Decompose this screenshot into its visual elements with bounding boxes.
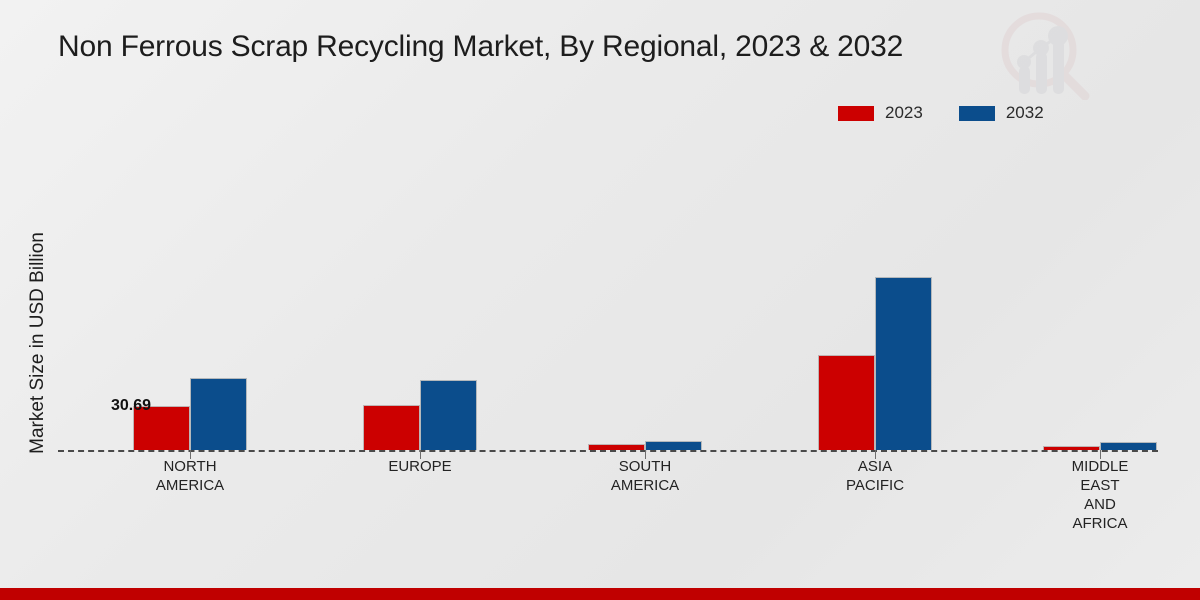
x-tick-label-middle-east-and-africa: MIDDLE EAST AND AFRICA <box>1015 457 1185 533</box>
bar-group-middle-east-and-africa <box>1040 150 1160 450</box>
bar-group-south-america <box>585 150 705 450</box>
data-label-north-america-2023: 30.69 <box>111 397 151 415</box>
bar-asia-pacific-2032[interactable] <box>875 277 932 450</box>
bar-europe-2023[interactable] <box>363 405 420 450</box>
footer-accent-bar <box>0 588 1200 600</box>
bar-middle-east-and-africa-2023[interactable] <box>1043 446 1100 450</box>
legend-swatch-2032 <box>959 106 995 121</box>
legend-item-2032[interactable]: 2032 <box>959 103 1044 123</box>
x-tick-label-line: PACIFIC <box>790 476 960 495</box>
x-tick-label-line: AFRICA <box>1015 514 1185 533</box>
bar-asia-pacific-2023[interactable] <box>818 355 875 450</box>
bar-south-america-2032[interactable] <box>645 441 702 450</box>
chart-page: Non Ferrous Scrap Recycling Market, By R… <box>0 0 1200 600</box>
bar-middle-east-and-africa-2032[interactable] <box>1100 442 1157 450</box>
x-tick-label-asia-pacific: ASIA PACIFIC <box>790 457 960 495</box>
x-axis-baseline <box>58 450 1158 452</box>
legend-label-2032: 2032 <box>1006 103 1044 123</box>
chart-legend: 2023 2032 <box>838 103 1044 123</box>
x-tick-label-line: AND <box>1015 495 1185 514</box>
x-tick-label-line: EAST <box>1015 476 1185 495</box>
legend-item-2023[interactable]: 2023 <box>838 103 923 123</box>
bar-group-asia-pacific <box>815 150 935 450</box>
x-tick-label-south-america: SOUTH AMERICA <box>560 457 730 495</box>
x-tick-label-europe: EUROPE <box>335 457 505 476</box>
magnifier-bar-chart-logo-icon <box>995 8 1095 100</box>
legend-swatch-2023 <box>838 106 874 121</box>
x-tick-label-line: MIDDLE <box>1015 457 1185 476</box>
x-tick-label-line: AMERICA <box>560 476 730 495</box>
x-tick-label-line: SOUTH <box>560 457 730 476</box>
bar-north-america-2032[interactable] <box>190 378 247 450</box>
x-tick-label-line: NORTH <box>105 457 275 476</box>
legend-label-2023: 2023 <box>885 103 923 123</box>
x-tick-label-line: EUROPE <box>335 457 505 476</box>
bar-group-europe <box>360 150 480 450</box>
x-tick-label-north-america: NORTH AMERICA <box>105 457 275 495</box>
page-title: Non Ferrous Scrap Recycling Market, By R… <box>58 30 903 64</box>
bar-south-america-2023[interactable] <box>588 444 645 450</box>
plot-area: 30.69 <box>58 150 1158 450</box>
x-tick-label-line: ASIA <box>790 457 960 476</box>
bar-europe-2032[interactable] <box>420 380 477 450</box>
y-axis-label: Market Size in USD Billion <box>27 163 49 523</box>
x-tick-label-line: AMERICA <box>105 476 275 495</box>
